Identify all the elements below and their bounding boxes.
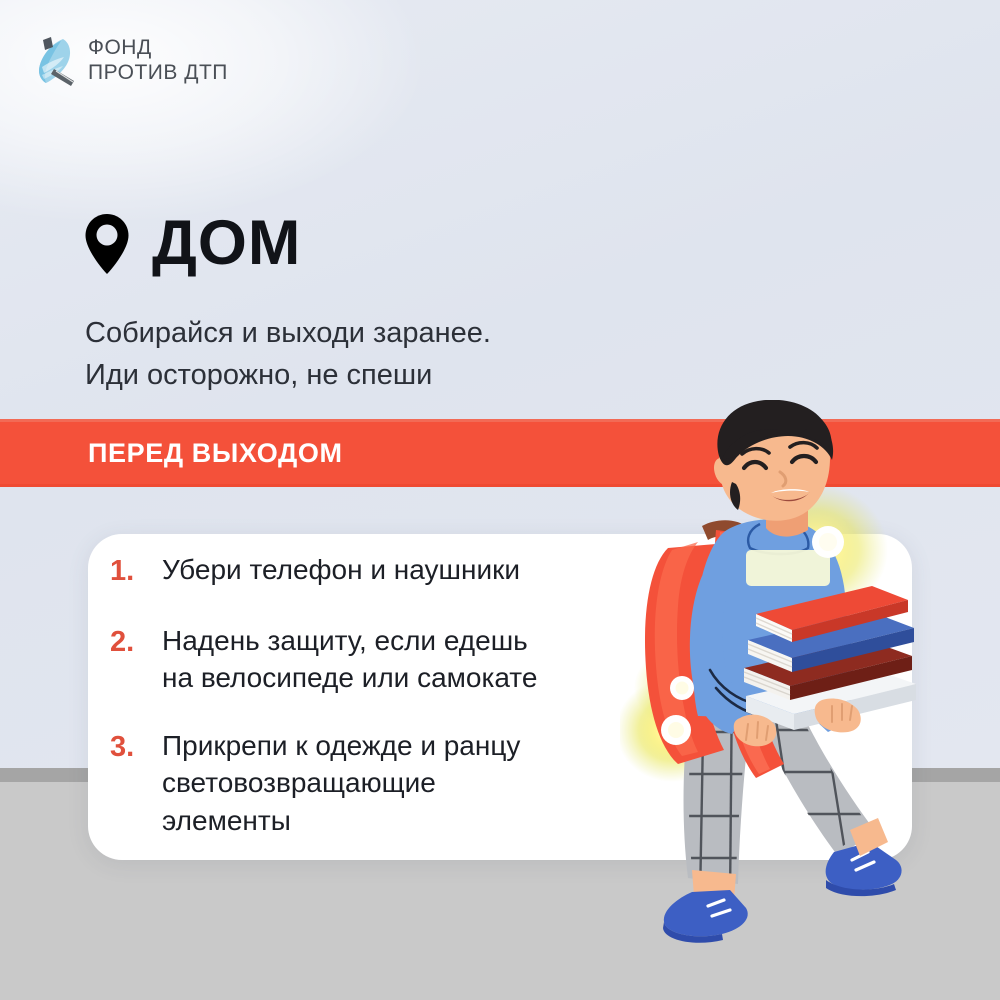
page-subtitle: Собирайся и выходи заранее. Иди осторожн… [85, 312, 705, 397]
page-subtitle-line-1: Собирайся и выходи заранее. [85, 312, 705, 354]
list-item-number: 3. [110, 727, 162, 767]
list-item: 3. Прикрепи к одежде и ранцу световозвра… [110, 727, 670, 839]
section-banner-label: ПЕРЕД ВЫХОДОМ [88, 438, 343, 469]
list-item-line: Надень защиту, если едешь [162, 622, 537, 659]
checklist: 1. Убери телефон и наушники 2. Надень за… [110, 551, 670, 839]
ribbon-road-logo-icon [30, 33, 78, 88]
list-item-line: Прикрепи к одежде и ранцу [162, 727, 520, 764]
list-item-text: Убери телефон и наушники [162, 551, 520, 588]
brand-logo[interactable]: ФОНД ПРОТИВ ДТП [30, 33, 228, 88]
list-item: 2. Надень защиту, если едешь на велосипе… [110, 622, 670, 696]
list-item-line: элементы [162, 802, 520, 839]
list-item-text: Прикрепи к одежде и ранцу световозвращаю… [162, 727, 520, 839]
poster-canvas: ФОНД ПРОТИВ ДТП ДОМ Собирайся и выходи з… [0, 0, 1000, 1000]
list-item-number: 2. [110, 622, 162, 662]
page-subtitle-line-2: Иди осторожно, не спеши [85, 354, 705, 396]
brand-logo-line-2: ПРОТИВ ДТП [88, 61, 228, 85]
list-item-line: Убери телефон и наушники [162, 554, 520, 585]
list-item-text: Надень защиту, если едешь на велосипеде … [162, 622, 537, 696]
schoolboy-with-books-illustration [620, 400, 1000, 960]
page-title: ДОМ [152, 212, 301, 275]
page-title-row: ДОМ [84, 212, 301, 275]
brand-logo-text: ФОНД ПРОТИВ ДТП [88, 36, 228, 84]
brand-logo-line-1: ФОНД [88, 36, 228, 60]
list-item: 1. Убери телефон и наушники [110, 551, 670, 591]
list-item-line: световозвращающие [162, 764, 520, 801]
list-item-number: 1. [110, 551, 162, 591]
list-item-line: на велосипеде или самокате [162, 659, 537, 696]
location-pin-icon [84, 213, 130, 275]
